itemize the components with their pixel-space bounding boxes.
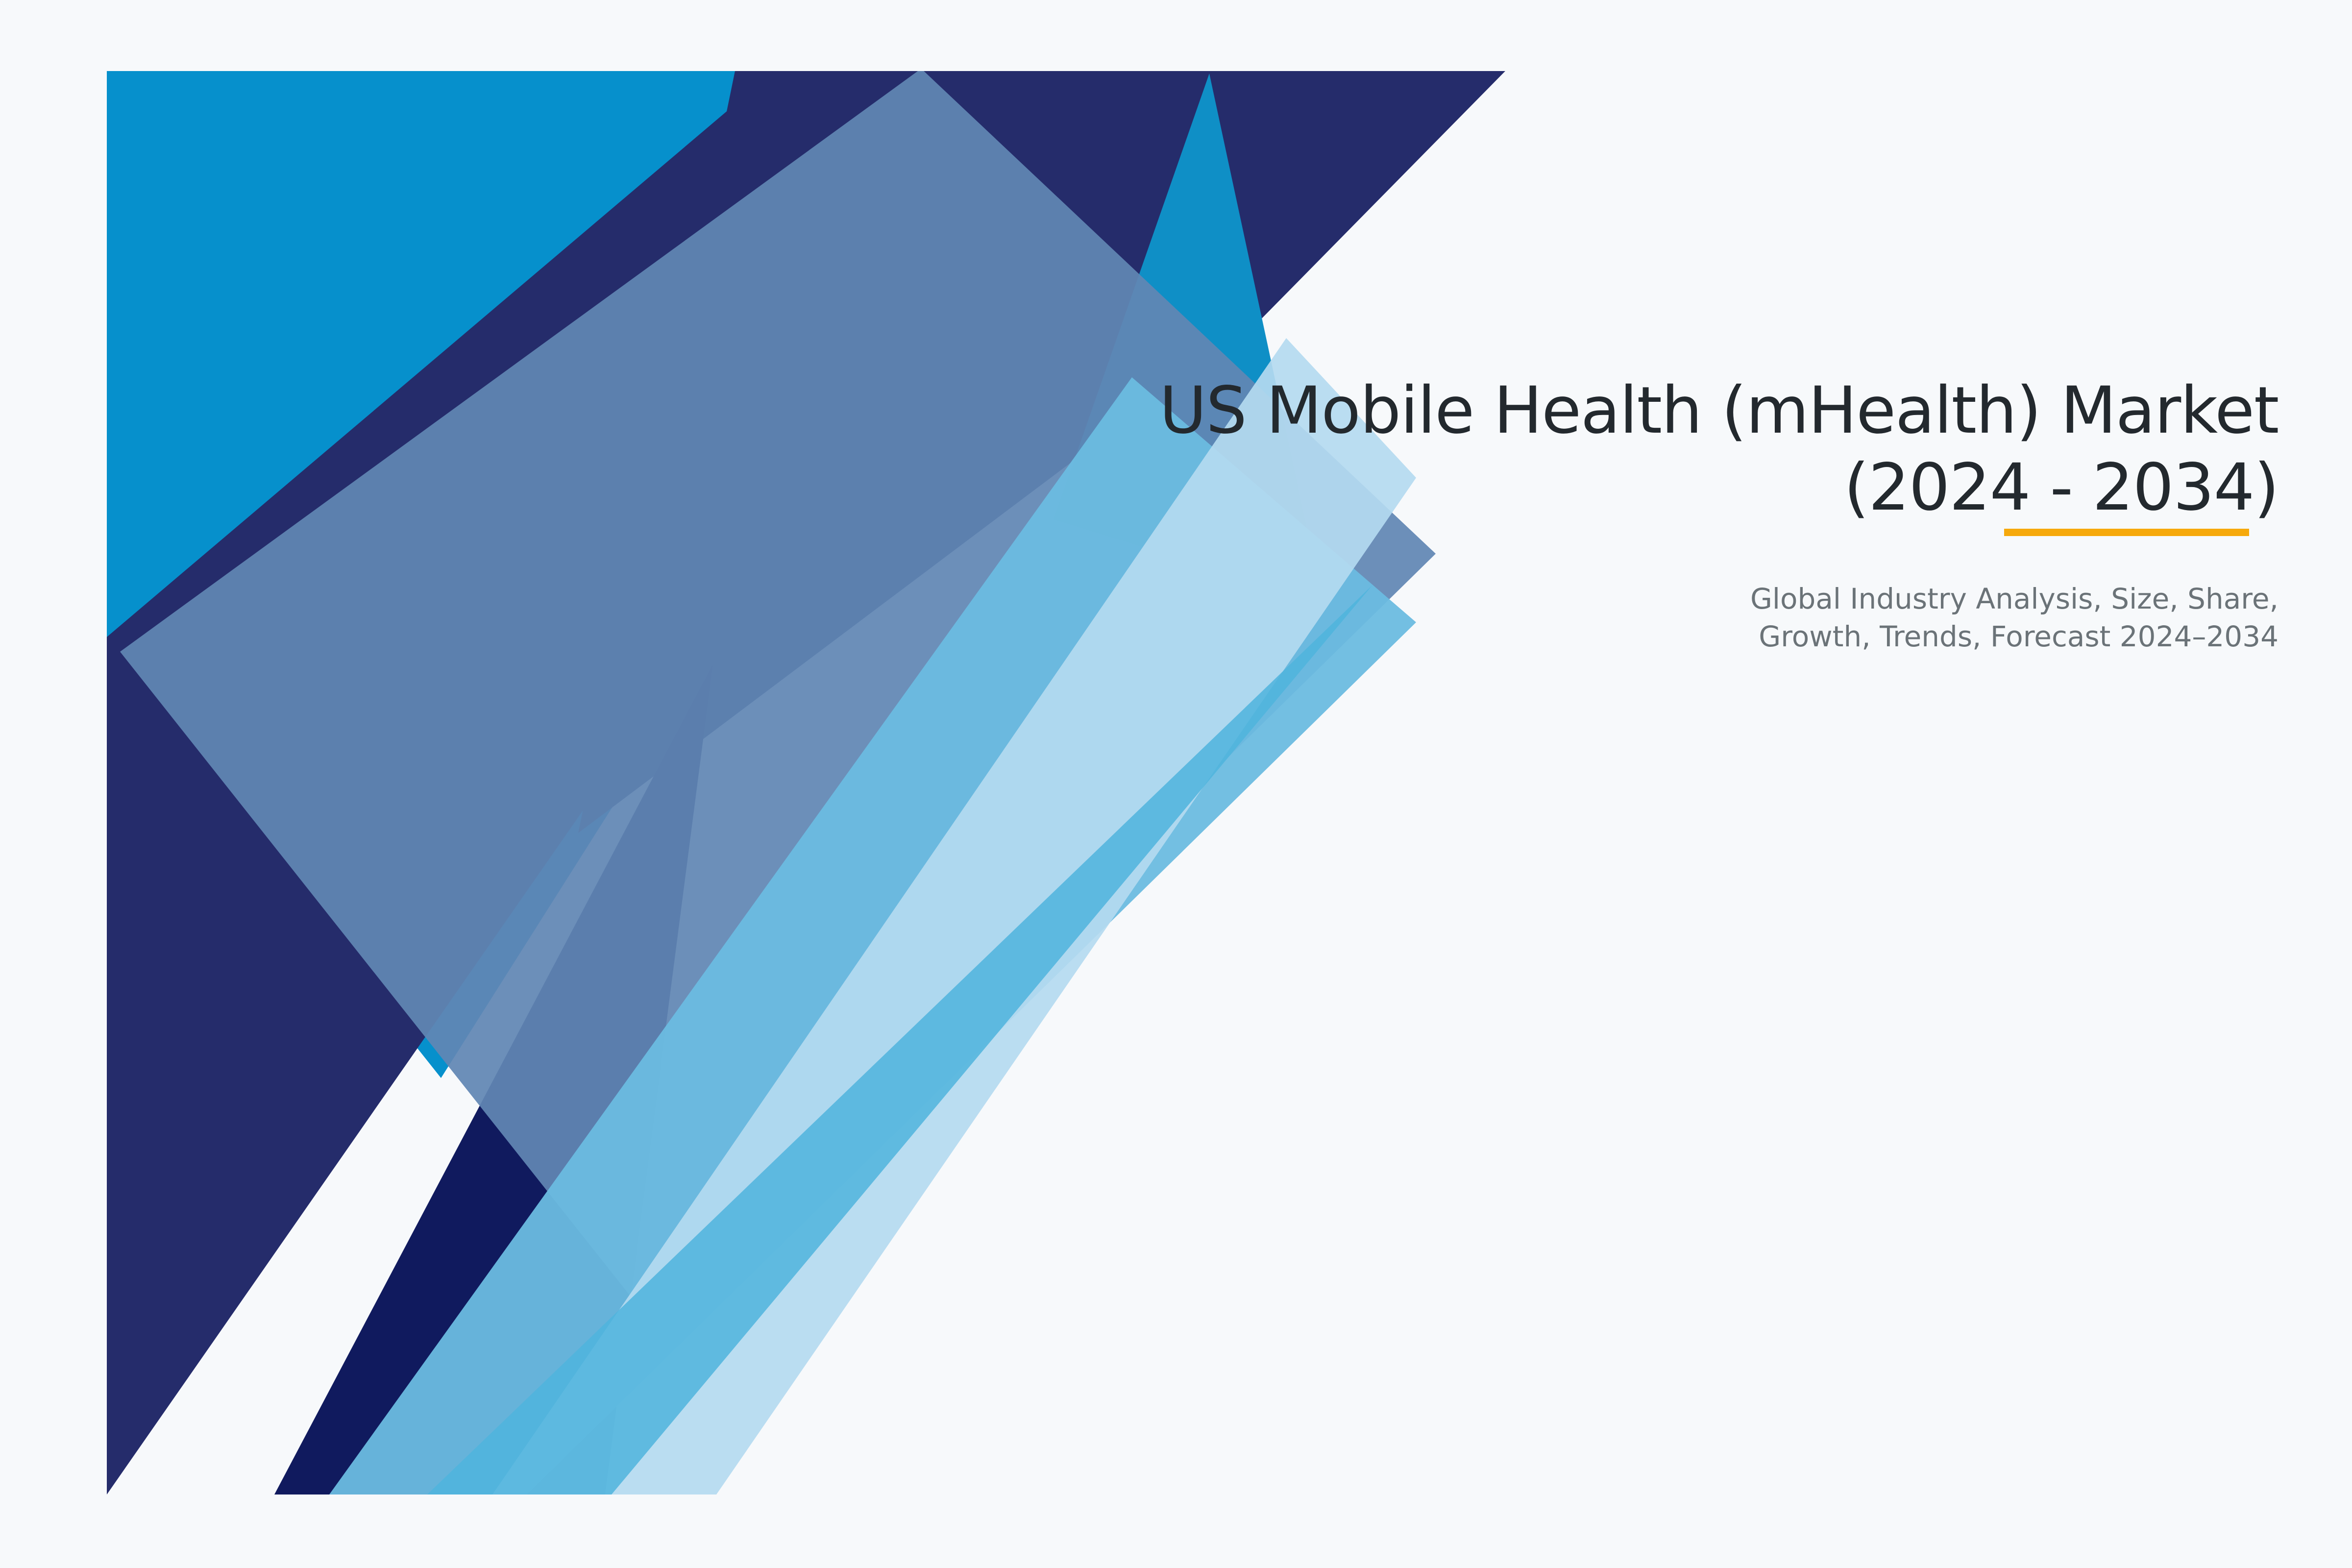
report-cover: US Mobile Health (mHealth) Market (2024 …: [0, 0, 2352, 1568]
title-underline-accent-bar: [2004, 529, 2249, 536]
abstract-geometric-cover-graphic: [0, 0, 2352, 1568]
page-subtitle: Global Industry Analysis, Size, Share, G…: [833, 580, 2278, 656]
cover-text-block: US Mobile Health (mHealth) Market (2024 …: [833, 372, 2278, 656]
page-title: US Mobile Health (mHealth) Market (2024 …: [833, 372, 2278, 526]
